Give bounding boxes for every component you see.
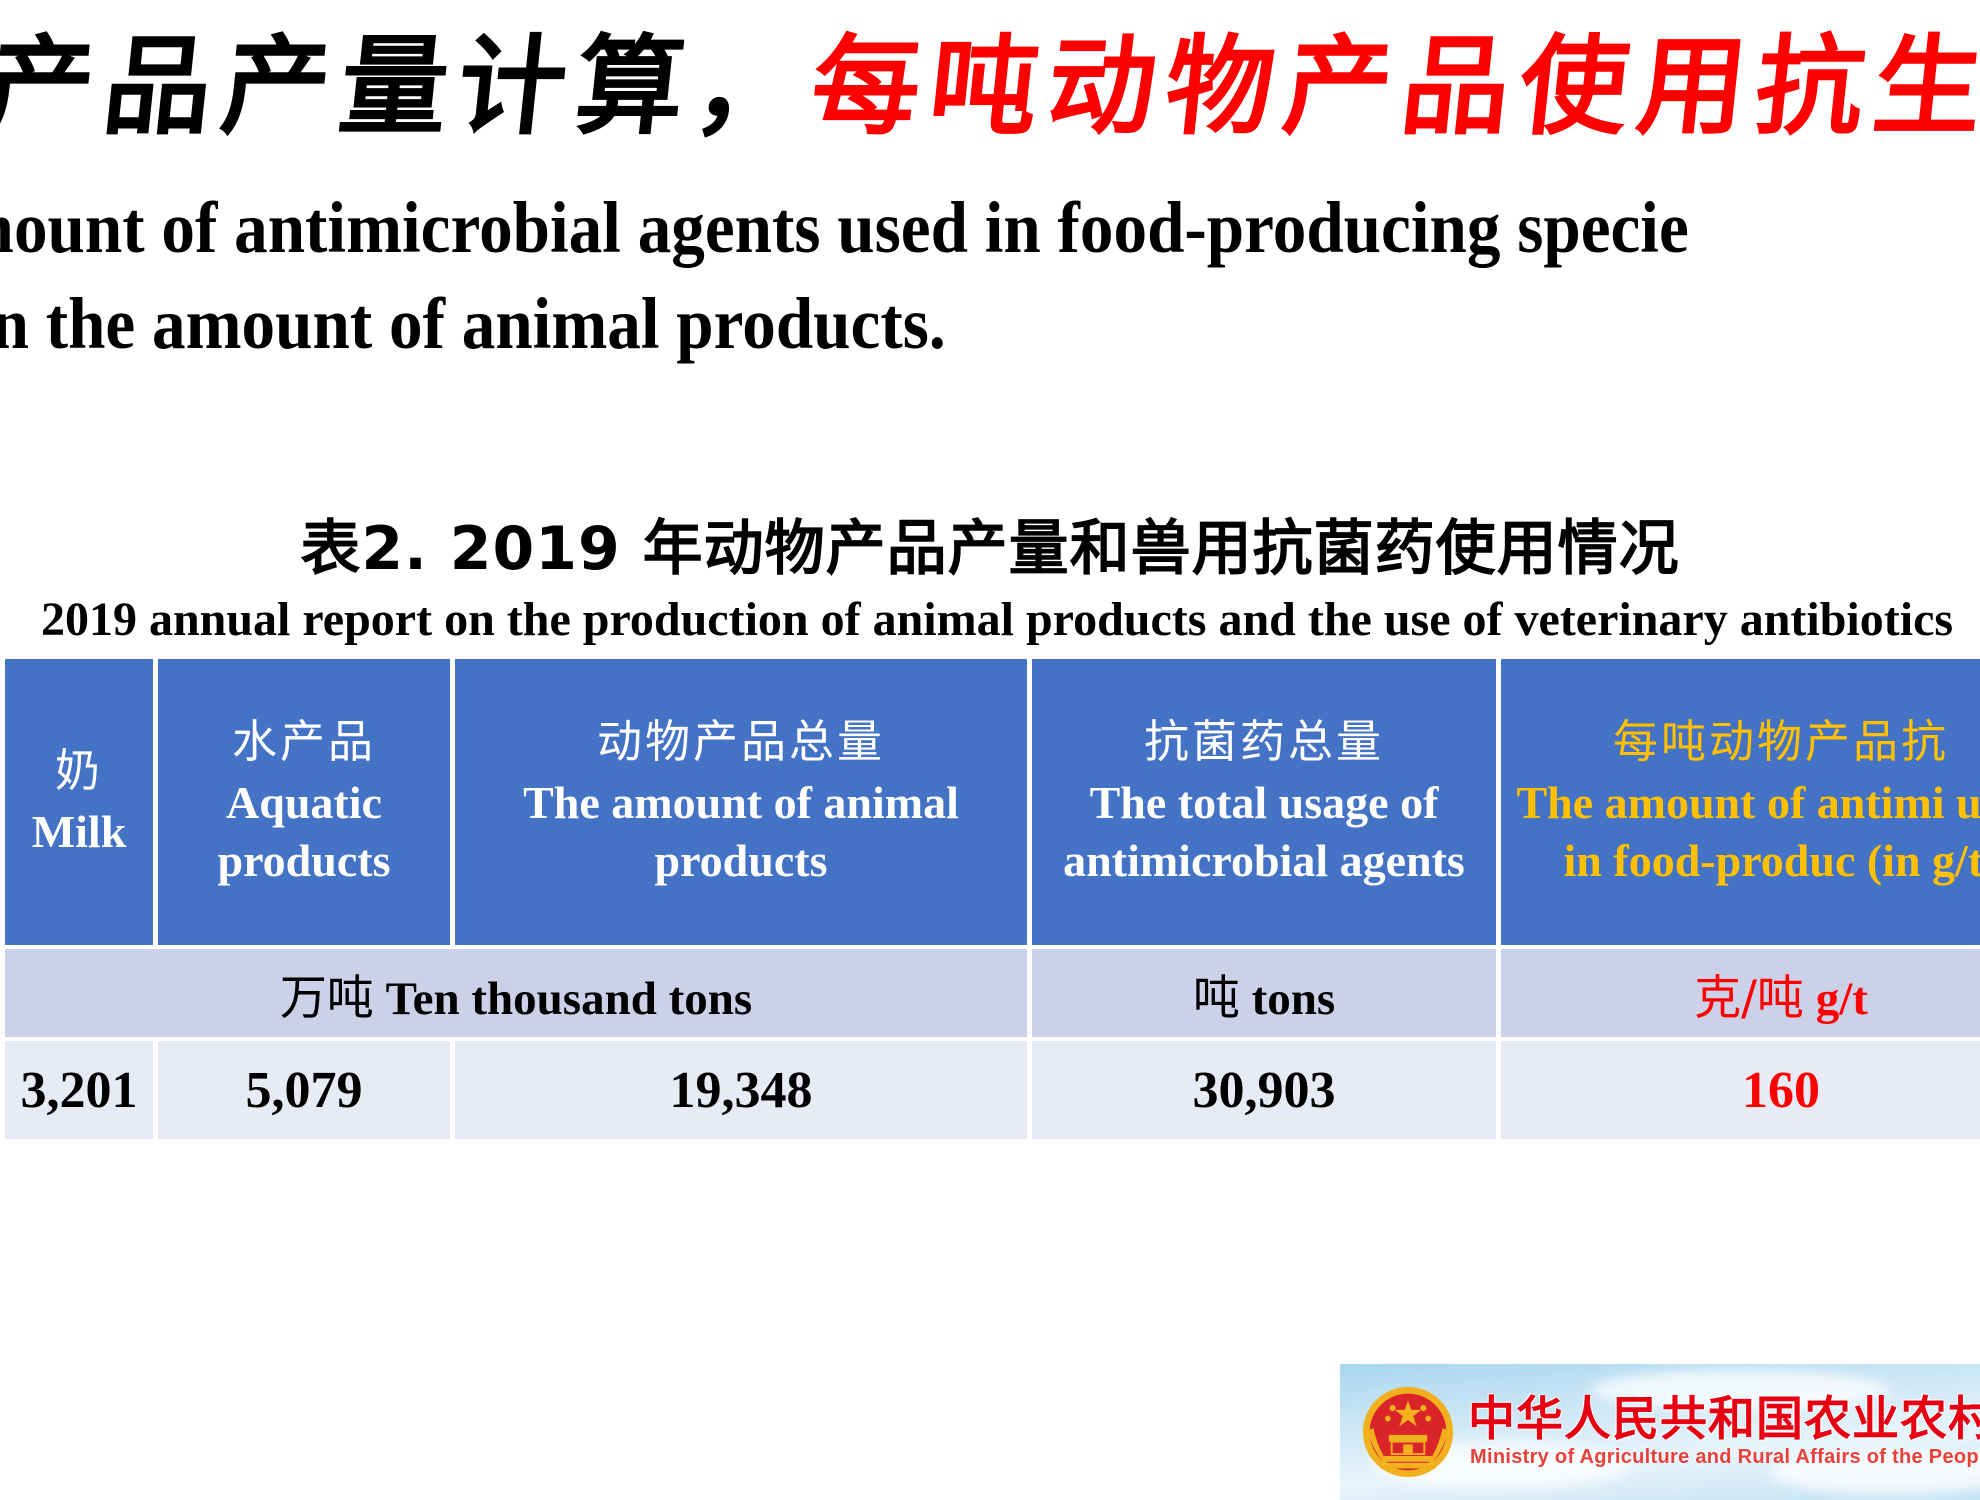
value-cell-milk: 3,201 [5, 1041, 153, 1139]
value-cell-total-antimicrobials: 30,903 [1032, 1041, 1496, 1139]
header-en-per-ton-usage: The amount of antimi used in food-produc… [1501, 774, 1980, 889]
header-cn-total-antimicrobials: 抗菌药总量 [1032, 715, 1496, 768]
unit-cn-grams-per-ton: 克/吨 [1694, 971, 1804, 1026]
header-en-total-animal-products: The amount of animal products [455, 774, 1027, 889]
unit-cell-ten-thousand-tons: 万吨 Ten thousand tons [5, 949, 1027, 1037]
header-cn-total-animal-products: 动物产品总量 [455, 715, 1027, 768]
unit-cell-grams-per-ton: 克/吨 g/t [1501, 949, 1980, 1037]
unit-cn-tons: 吨 [1193, 971, 1240, 1026]
value-cell-aquatic: 5,079 [158, 1041, 450, 1139]
table-values-row: 3,201 5,079 19,348 30,903 160 [5, 1041, 1980, 1139]
table-units-row: 万吨 Ten thousand tons 吨 tons 克/吨 g/t [5, 949, 1980, 1037]
heading-english-line-1: mount of antimicrobial agents used in fo… [0, 186, 1689, 270]
table-header-row: 奶 Milk 水产品 Aquatic products 动物产品总量 The a… [5, 659, 1980, 945]
unit-en-ten-thousand-tons: Ten thousand tons [386, 973, 753, 1025]
logo-chinese-text: 中华人民共和国农业农村 [1468, 1380, 1980, 1449]
table-header-cell-per-ton-usage: 每吨动物产品抗 The amount of antimi used in foo… [1501, 659, 1980, 945]
table-header-cell-total-animal-products: 动物产品总量 The amount of animal products [455, 659, 1027, 945]
unit-cn-ten-thousand-tons: 万吨 [280, 971, 374, 1026]
table-caption-english: 2019 annual report on the production of … [0, 592, 1980, 647]
header-cn-milk: 奶 [5, 744, 153, 797]
animal-products-antibiotics-table: 奶 Milk 水产品 Aquatic products 动物产品总量 The a… [0, 655, 1980, 1143]
logo-english-text: Ministry of Agriculture and Rural Affair… [1470, 1446, 1980, 1469]
table-header-cell-milk: 奶 Milk [5, 659, 153, 945]
header-en-total-antimicrobials: The total usage of antimicrobial agents [1032, 774, 1496, 889]
table-header-cell-aquatic: 水产品 Aquatic products [158, 659, 450, 945]
table-header-cell-total-antimicrobials: 抗菌药总量 The total usage of antimicrobial a… [1032, 659, 1496, 945]
table-caption-chinese: 表2. 2019 年动物产品产量和兽用抗菌药使用情况 [0, 500, 1980, 587]
unit-en-grams-per-ton: g/t [1816, 973, 1868, 1025]
header-cn-aquatic: 水产品 [158, 715, 450, 768]
header-cn-per-ton-usage: 每吨动物产品抗 [1501, 715, 1980, 768]
unit-en-tons: tons [1252, 973, 1336, 1025]
ministry-logo-banner: 中华人民共和国农业农村 Ministry of Agriculture and … [1340, 1364, 1980, 1500]
header-en-milk: Milk [5, 803, 153, 861]
china-national-emblem-icon [1360, 1384, 1456, 1480]
header-en-aquatic: Aquatic products [158, 774, 450, 889]
heading-black-text: 产品产量计算， [0, 25, 819, 150]
heading-red-text: 每吨动物产品使用抗生素 [806, 25, 1980, 150]
value-cell-per-ton-usage: 160 [1501, 1041, 1980, 1139]
heading-english-line-2: on the amount of animal products. [0, 282, 946, 366]
slide-heading: 产品产量计算，每吨动物产品使用抗生素 [0, 26, 1980, 150]
value-cell-total-animal-products: 19,348 [455, 1041, 1027, 1139]
unit-cell-tons: 吨 tons [1032, 949, 1496, 1037]
